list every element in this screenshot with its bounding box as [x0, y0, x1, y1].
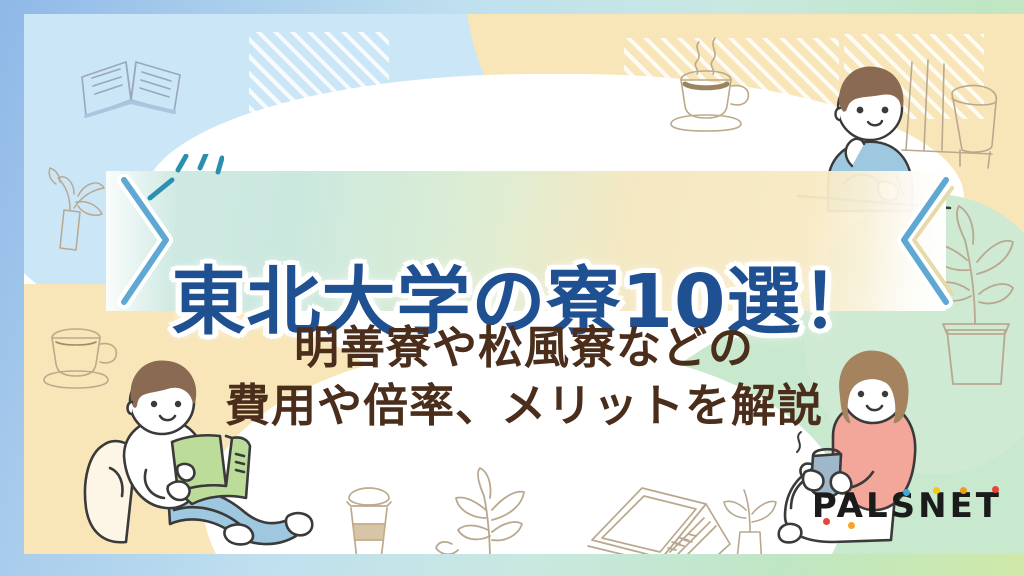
stripe-pattern-left	[249, 32, 389, 127]
logo-dot-orange-1	[848, 522, 855, 529]
takeaway-coffee-cup-icon	[339, 482, 399, 554]
palsnet-logo[interactable]: PALSNET	[812, 486, 1002, 526]
subtitle-line-1: 明善寮や松風寮などの	[24, 319, 1024, 377]
open-book-icon	[74, 42, 189, 127]
logo-dot-blue	[903, 489, 910, 496]
sparkle-lines-icon	[144, 154, 224, 214]
inner-card: 東北大学の寮10選！ 明善寮や松風寮などの 費用や倍率、メリットを解説 PALS…	[24, 14, 1024, 554]
laptop-icon	[584, 482, 734, 554]
coffee-cup-steam-icon	[659, 36, 779, 131]
small-plant-sprig-icon	[714, 484, 784, 554]
potted-plant-icon	[434, 466, 544, 554]
thumbnail-canvas: 東北大学の寮10選！ 明善寮や松風寮などの 費用や倍率、メリットを解説 PALS…	[0, 0, 1024, 576]
page-subtitle: 明善寮や松風寮などの 費用や倍率、メリットを解説	[24, 319, 1024, 434]
subtitle-line-2: 費用や倍率、メリットを解説	[24, 377, 1024, 435]
